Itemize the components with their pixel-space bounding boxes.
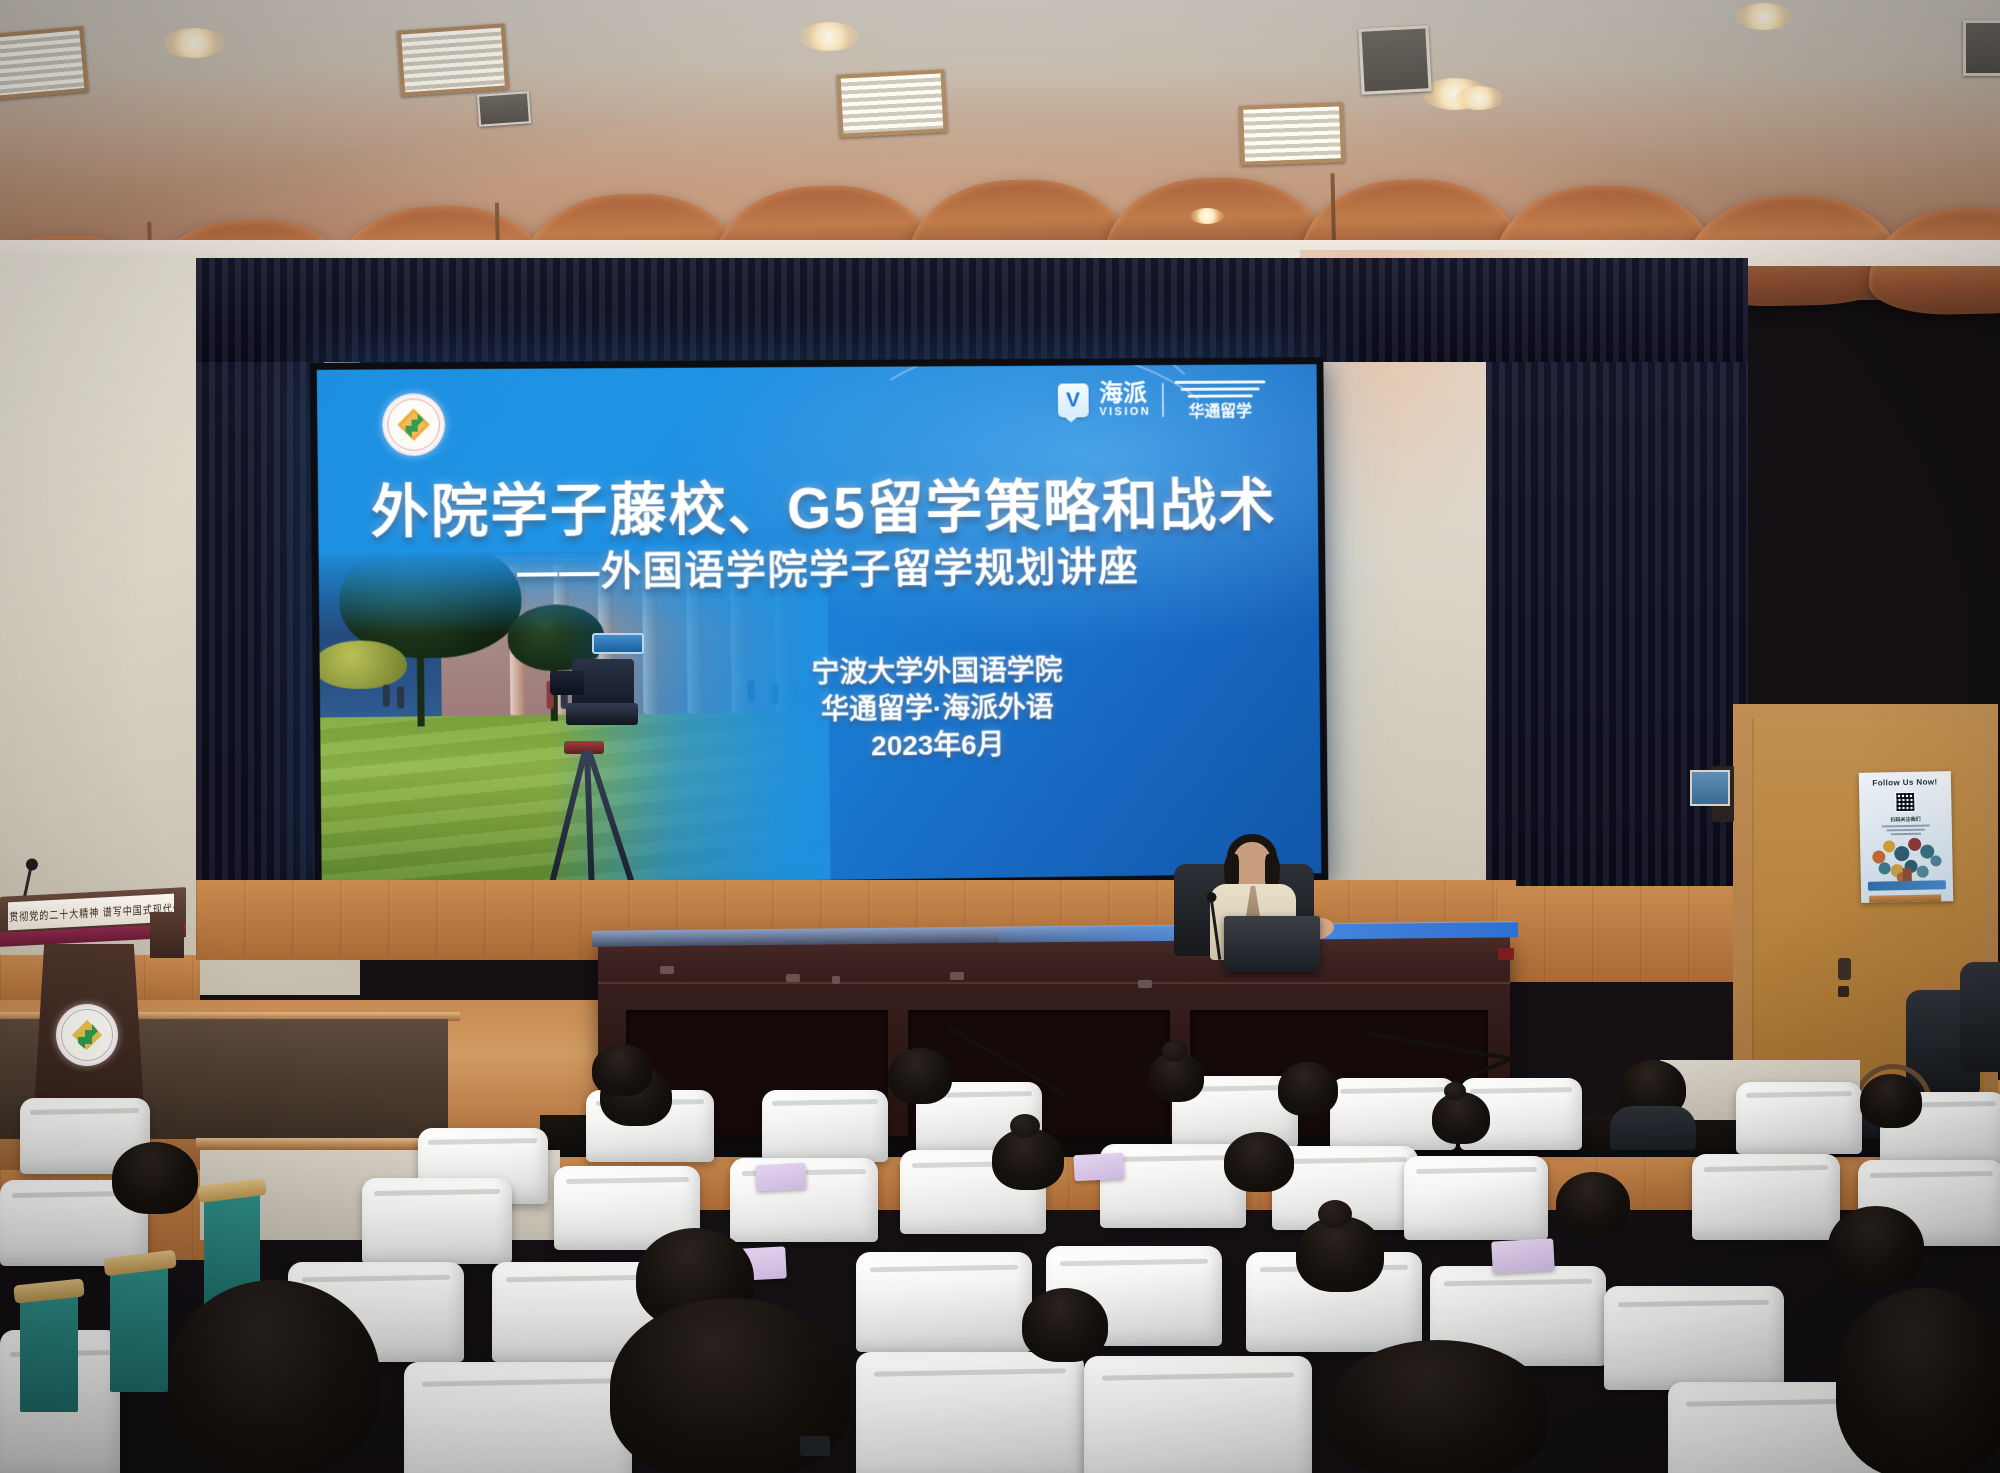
ceiling-downlight — [163, 28, 225, 58]
camera-monitor-icon — [592, 633, 644, 654]
person-hair — [1328, 1340, 1548, 1473]
person-hair — [888, 1048, 952, 1104]
audience-person — [1278, 1062, 1338, 1116]
audience-seat — [1736, 1082, 1862, 1154]
seat-white-cover — [1736, 1082, 1862, 1154]
seat-writing-tablet — [755, 1163, 806, 1192]
seat-white-cover — [404, 1362, 632, 1473]
ceiling-light-grille — [397, 23, 509, 96]
seat-white-cover — [1404, 1156, 1548, 1240]
university-emblem-icon — [382, 393, 445, 456]
person-hair — [1224, 1132, 1294, 1192]
audience-person — [1828, 1206, 1924, 1288]
slide-credit-date: 2023年6月 — [728, 725, 1147, 767]
student-phone — [800, 1436, 830, 1456]
poster-qr-code-icon — [1895, 792, 1915, 812]
wall-poster: Follow Us Now! 扫码关注我们 — [1859, 771, 1953, 903]
canopy-downlight — [1455, 86, 1503, 110]
canopy-downlight — [1190, 208, 1224, 224]
door-handle-icon[interactable] — [1838, 958, 1851, 980]
person-shoulders — [1610, 1106, 1696, 1150]
led-presentation-screen: V 海派 VISION 华通留学 外院学子藤校、G5留学策略和战术 ——外国语学… — [310, 357, 1329, 894]
audience-person-foreground — [168, 1280, 380, 1473]
audience-seat — [1084, 1356, 1312, 1473]
audience-person — [992, 1128, 1064, 1190]
audience-person — [1296, 1216, 1384, 1292]
office-chair-back — [1960, 962, 2000, 1072]
audience-seat — [856, 1352, 1084, 1473]
audience-person — [592, 1044, 652, 1096]
audience-seat — [404, 1362, 632, 1473]
poster-shelf — [1869, 894, 1941, 902]
audience-seat — [362, 1178, 512, 1264]
desk-seam — [598, 982, 1510, 984]
poster-bubble — [1883, 840, 1895, 852]
ceiling-air-vent — [477, 91, 531, 127]
desk-knob — [786, 974, 800, 982]
seat-white-cover — [1604, 1286, 1784, 1390]
desk-small-object — [1498, 948, 1514, 960]
seat-side-panel — [110, 1262, 168, 1392]
ceiling-light-grille — [0, 26, 89, 100]
desk-knob — [832, 976, 840, 984]
tripod-head — [566, 703, 638, 725]
stage-wainscot-right — [1496, 886, 1746, 982]
person-hair-bun — [1318, 1200, 1352, 1228]
poster-bubble — [1930, 855, 1941, 866]
person-hair — [1022, 1288, 1108, 1362]
audience-seat — [762, 1090, 888, 1162]
poster-bubble — [1878, 862, 1890, 874]
audience-person-foreground — [1328, 1340, 1548, 1473]
vision-logo-cn: 海派 — [1099, 382, 1151, 406]
desk-knob — [1138, 980, 1152, 988]
slide-brand-logos: V 海派 VISION 华通留学 — [1057, 378, 1265, 421]
person-hair-bun — [1010, 1114, 1040, 1138]
audience-person — [1556, 1172, 1630, 1236]
poster-subhead: 扫码关注我们 — [1860, 815, 1952, 824]
person-hair — [1828, 1206, 1924, 1288]
emblem-disc — [56, 1004, 118, 1066]
vision-logo-en: VISION — [1099, 406, 1151, 418]
poster-bubble — [1908, 838, 1921, 851]
lectern-side-wing — [150, 912, 184, 958]
seat-white-cover — [856, 1352, 1084, 1473]
desk-knob — [950, 972, 964, 980]
person-hair — [1278, 1062, 1338, 1116]
emblem-ring — [387, 398, 440, 451]
huatong-wave-icon — [1175, 378, 1266, 414]
slide-credit-partner: 华通留学·海派外语 — [728, 689, 1147, 730]
person-hair — [1432, 1092, 1490, 1144]
audience-person — [1620, 1060, 1686, 1118]
ceiling-air-vent — [1963, 20, 2000, 76]
video-camera-tripod — [540, 637, 690, 887]
slide-subtitle: ——外国语学院学子留学规划讲座 — [517, 533, 1328, 598]
presenter-speaker — [1186, 820, 1366, 970]
ceiling-downlight — [1735, 3, 1793, 30]
poster-bubble — [1894, 846, 1909, 861]
person-hair — [168, 1280, 380, 1473]
person-hair — [1556, 1172, 1630, 1236]
lectern-university-emblem-icon — [56, 1004, 118, 1066]
slide-credit-university: 宁波大学外国语学院 — [727, 652, 1146, 693]
seat-writing-tablet — [1491, 1238, 1555, 1273]
emblem-ring — [61, 1009, 113, 1061]
audience-person — [888, 1048, 952, 1104]
wall-sign — [1690, 770, 1730, 806]
audience-person-foreground — [1836, 1288, 2000, 1473]
logo-divider — [1162, 383, 1164, 417]
presenter-laptop — [1224, 916, 1320, 972]
seat-white-cover — [856, 1252, 1032, 1352]
seat-white-cover — [1084, 1356, 1312, 1473]
ceiling-air-vent — [1358, 25, 1431, 95]
stage-curtain-top — [196, 258, 1748, 362]
camera-lens-icon — [550, 671, 584, 695]
lecture-hall-photo: V 海派 VISION 华通留学 外院学子藤校、G5留学策略和战术 ——外国语学… — [0, 0, 2000, 1473]
seat-white-cover — [762, 1090, 888, 1162]
audience-person — [1148, 1052, 1204, 1102]
desk-knob — [660, 966, 674, 974]
person-hair — [112, 1142, 198, 1214]
person-hair — [1836, 1288, 2000, 1473]
audience-seat — [1404, 1156, 1548, 1240]
audience-seat — [1692, 1154, 1840, 1240]
tripod-leg — [548, 750, 588, 887]
audience-person — [1022, 1288, 1108, 1362]
seat-white-cover — [362, 1178, 512, 1264]
person-hair-bun — [1444, 1082, 1466, 1100]
person-hair — [1860, 1074, 1922, 1128]
person-hair — [592, 1044, 652, 1096]
audience-seat — [1604, 1286, 1784, 1390]
audience-seat — [856, 1252, 1032, 1352]
ceiling-downlight — [799, 22, 859, 51]
audience-person — [1224, 1132, 1294, 1192]
seat-writing-tablet — [1073, 1153, 1124, 1182]
seat-white-cover — [1692, 1154, 1840, 1240]
audience-person — [1860, 1074, 1922, 1128]
poster-headline: Follow Us Now! — [1859, 777, 1951, 788]
person-hair-bun — [1162, 1040, 1188, 1062]
person-hair — [1296, 1216, 1384, 1292]
poster-bubble — [1917, 866, 1929, 878]
vision-logo-icon: V — [1057, 383, 1088, 417]
seat-side-panel — [20, 1292, 78, 1412]
door-lock-icon[interactable] — [1838, 986, 1849, 997]
slide-credits: 宁波大学外国语学院 华通留学·海派外语 2023年6月 — [727, 652, 1146, 767]
audience-person — [1432, 1092, 1490, 1144]
poster-footer-bar — [1868, 880, 1946, 890]
audience-person — [112, 1142, 198, 1214]
